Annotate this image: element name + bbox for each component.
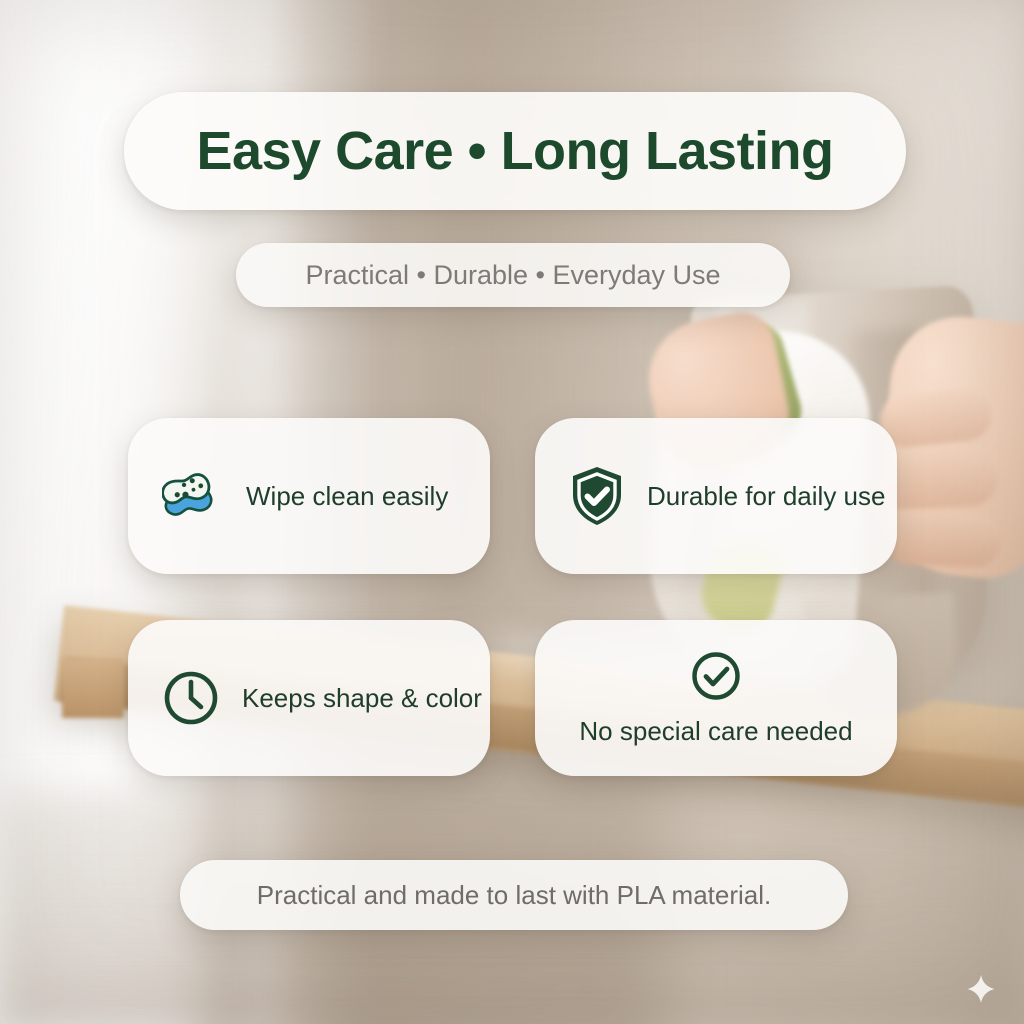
sponge-icon bbox=[162, 471, 224, 521]
feature-card-no-special-care[interactable]: No special care needed bbox=[535, 620, 897, 776]
feature-card-wipe-clean[interactable]: Wipe clean easily bbox=[128, 418, 490, 574]
infographic-canvas: Easy Care • Long Lasting Practical • Dur… bbox=[0, 0, 1024, 1024]
subtitle-pill: Practical • Durable • Everyday Use bbox=[236, 243, 790, 307]
title-pill: Easy Care • Long Lasting bbox=[124, 92, 906, 210]
feature-label: Wipe clean easily bbox=[246, 481, 448, 512]
check-circle-icon bbox=[690, 650, 742, 702]
feature-label: No special care needed bbox=[579, 716, 852, 747]
sparkle-icon bbox=[966, 974, 996, 1004]
feature-card-keeps-shape[interactable]: Keeps shape & color bbox=[128, 620, 490, 776]
feature-label: Durable for daily use bbox=[647, 481, 885, 512]
page-subtitle: Practical • Durable • Everyday Use bbox=[305, 260, 720, 291]
footer-note: Practical and made to last with PLA mate… bbox=[257, 880, 771, 911]
feature-card-durable[interactable]: Durable for daily use bbox=[535, 418, 897, 574]
clock-icon bbox=[162, 669, 220, 727]
page-title: Easy Care • Long Lasting bbox=[196, 120, 833, 182]
feature-label: Keeps shape & color bbox=[242, 683, 482, 714]
footer-pill: Practical and made to last with PLA mate… bbox=[180, 860, 848, 930]
shield-check-icon bbox=[569, 465, 625, 527]
